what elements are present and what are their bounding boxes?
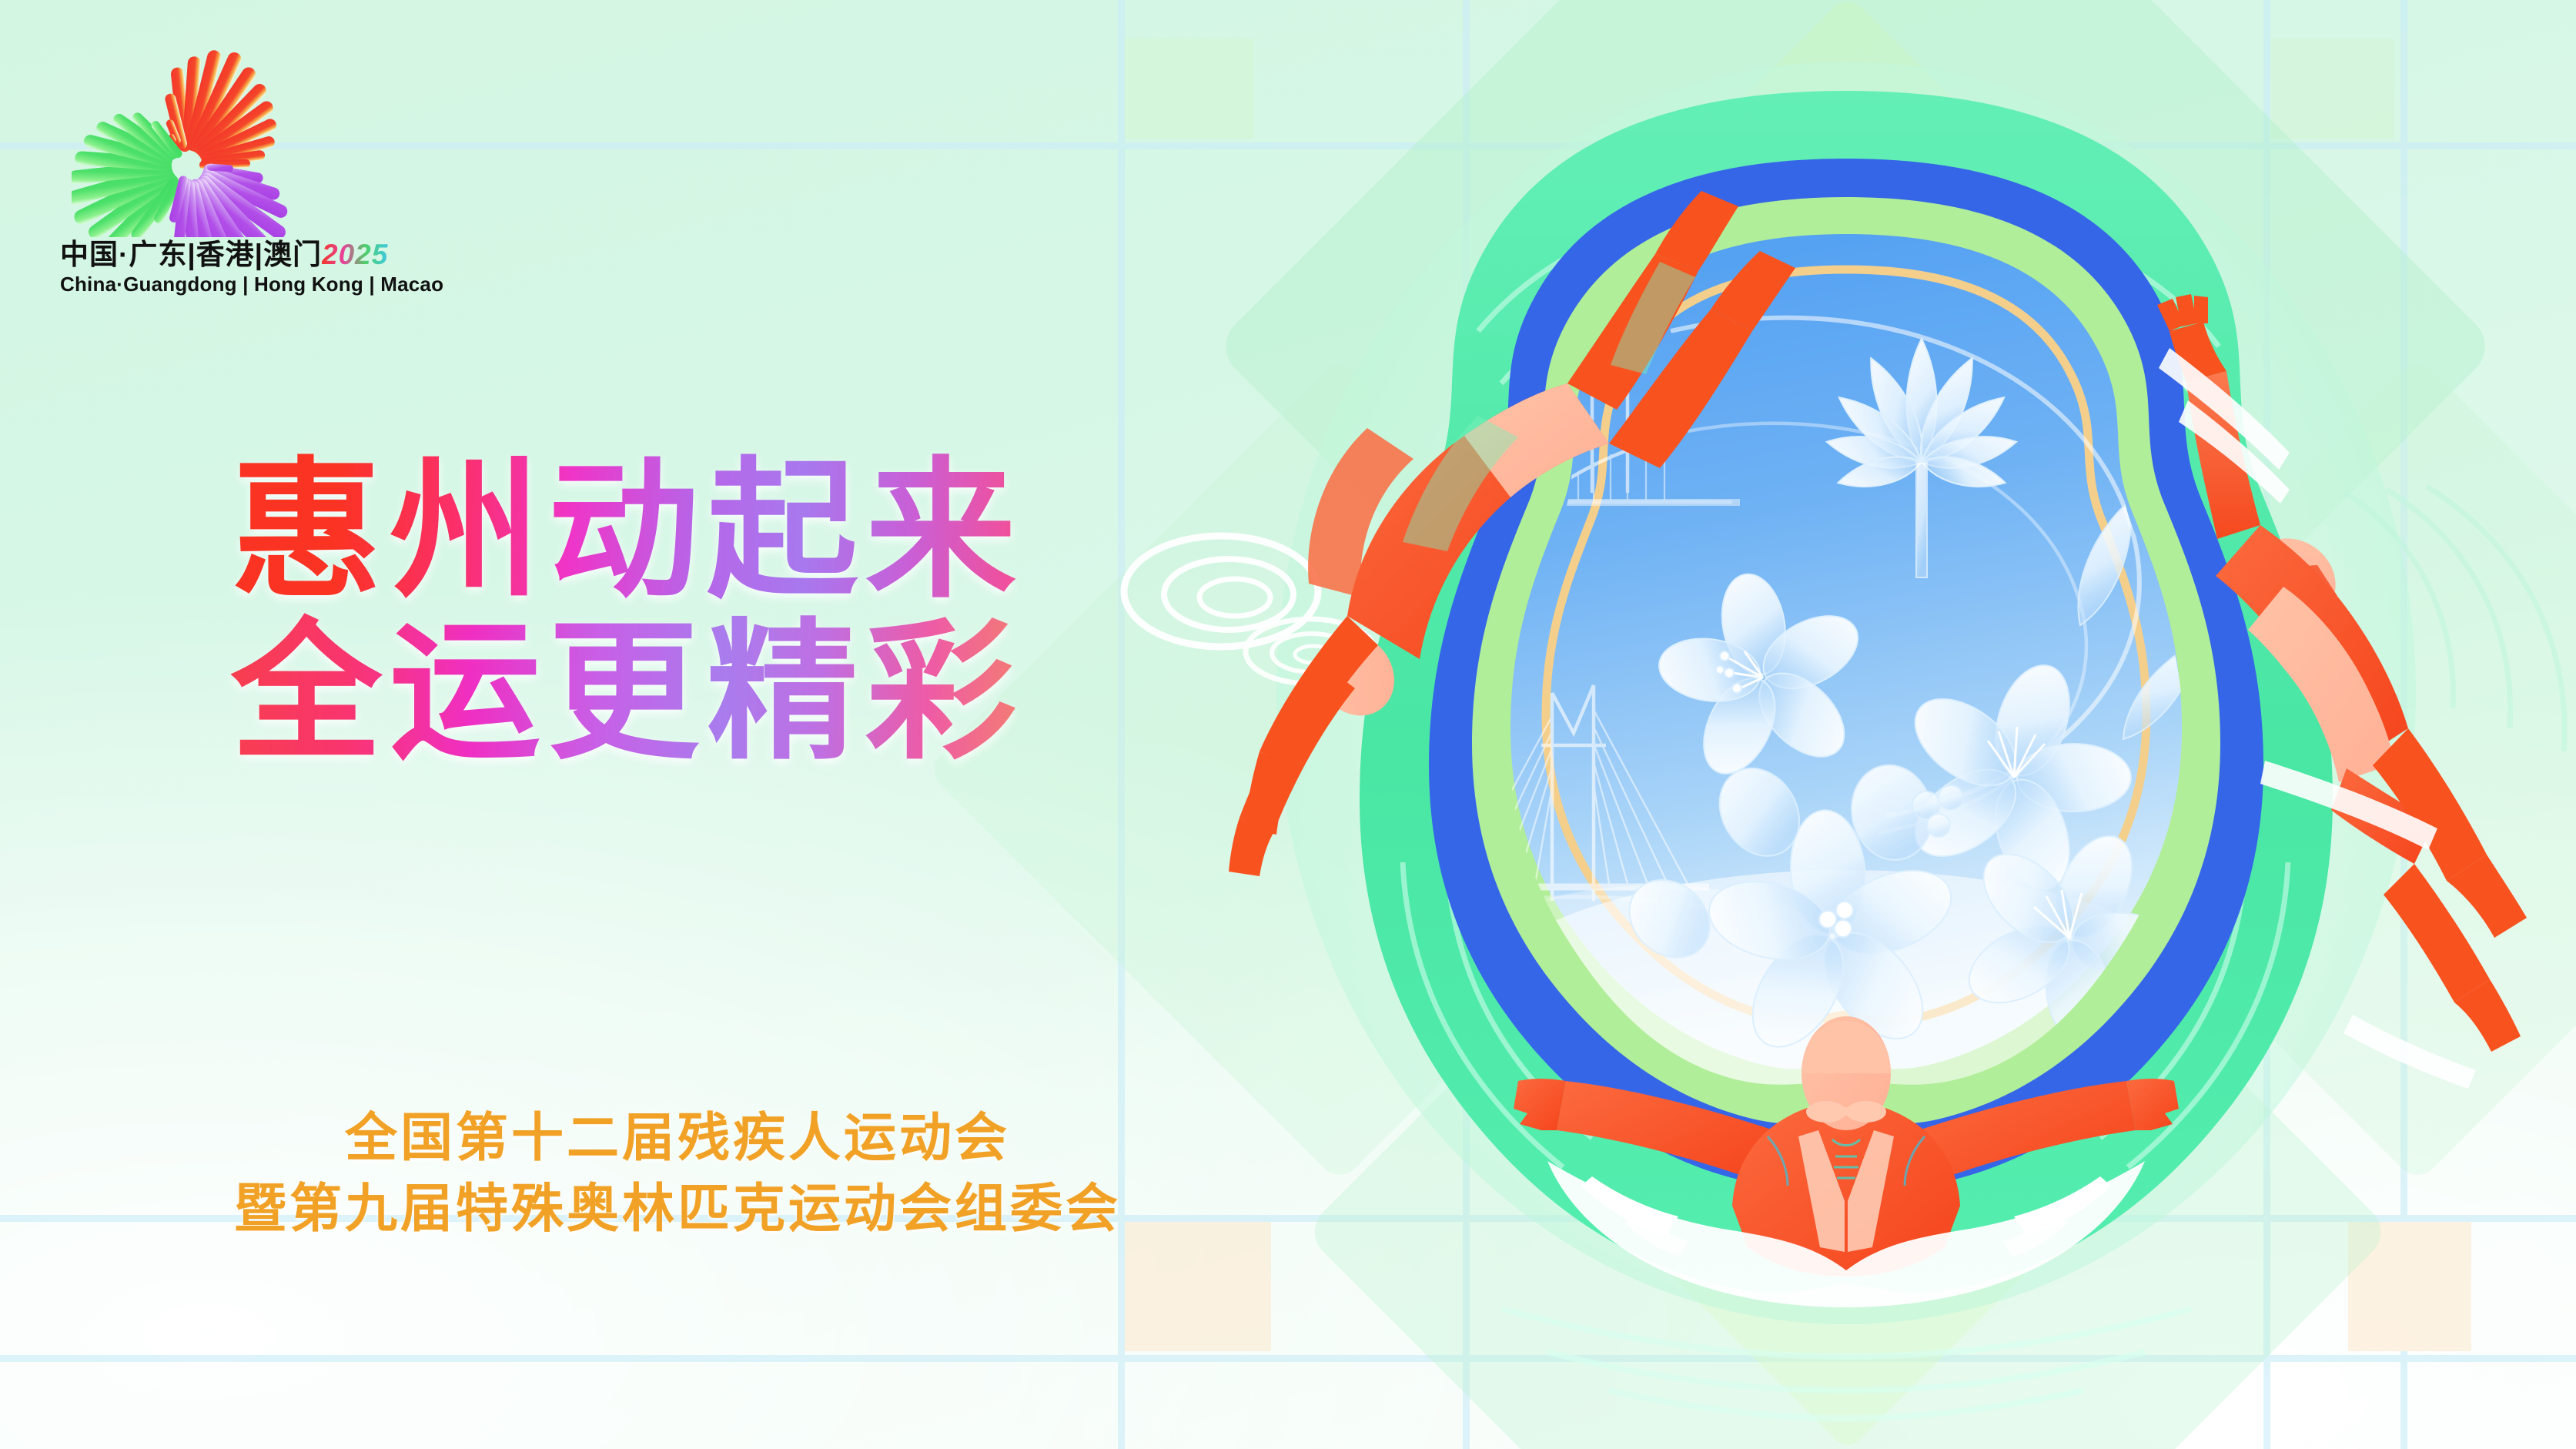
emblem-en-line: China·Guangdong | Hong Kong | Macao (60, 274, 314, 294)
emblem-burst-icon (72, 31, 303, 237)
games-emblem[interactable]: 中国·广东|香港|澳门2025 China·Guangdong | Hong K… (60, 31, 314, 294)
headline-line-1: 惠州动起来 (231, 450, 1124, 612)
organizer-line-1: 全国第十二届残疾人运动会 (231, 1103, 1124, 1173)
emblem-year: 2025 (322, 239, 388, 270)
emblem-cn-text: 中国·广东|香港|澳门 (60, 239, 322, 270)
headline-line-2: 全运更精彩 (231, 612, 1124, 774)
poster-canvas: 中国·广东|香港|澳门2025 China·Guangdong | Hong K… (0, 0, 2576, 1449)
emblem-cn-line: 中国·广东|香港|澳门2025 (60, 240, 314, 269)
organizer-line-2: 暨第九届特殊奥林匹克运动会组委会 (231, 1173, 1124, 1244)
headline-block: 惠州动起来 全运更精彩 (231, 450, 1124, 773)
organizer-block: 全国第十二届残疾人运动会 暨第九届特殊奥林匹克运动会组委会 (231, 1103, 1124, 1245)
emblem-wordmark: 中国·广东|香港|澳门2025 China·Guangdong | Hong K… (60, 240, 314, 294)
swimming-medallion-illustration (1116, 0, 2576, 1449)
